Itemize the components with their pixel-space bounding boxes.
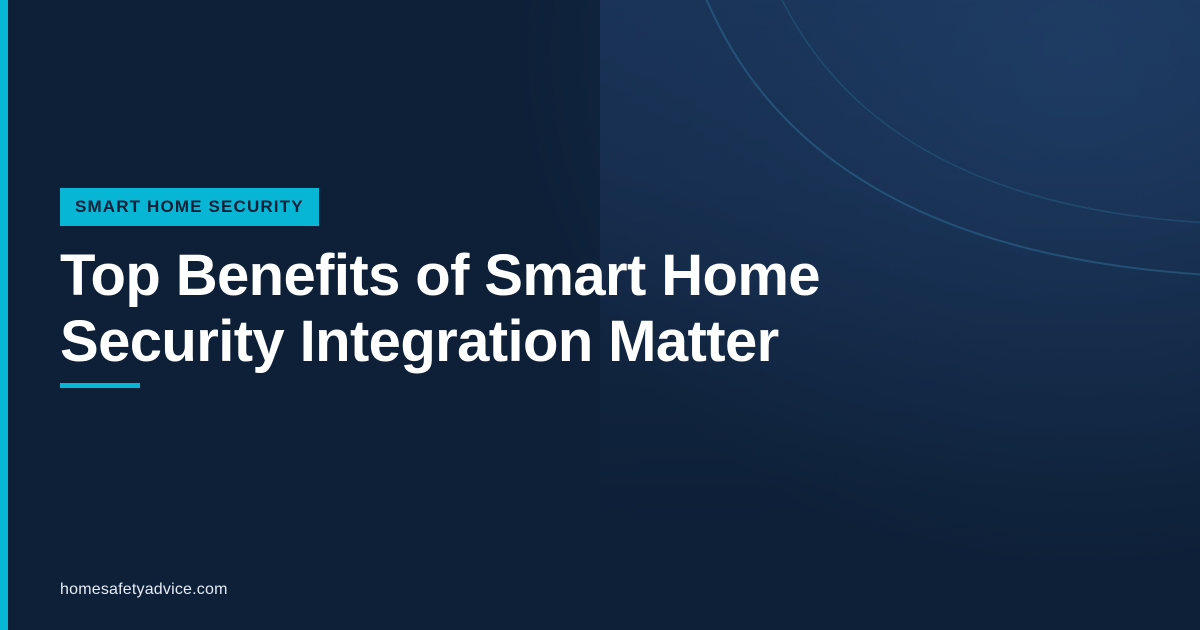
page-title: Top Benefits of Smart Home Security Inte… [60,243,1020,375]
left-accent-rail [0,0,8,630]
card-content: SMART HOME SECURITY Top Benefits of Smar… [60,0,1070,630]
site-url-label: homesafetyadvice.com [60,581,228,599]
category-badge: SMART HOME SECURITY [60,188,319,226]
accent-underline [60,383,140,388]
og-share-card: SMART HOME SECURITY Top Benefits of Smar… [0,0,1200,630]
